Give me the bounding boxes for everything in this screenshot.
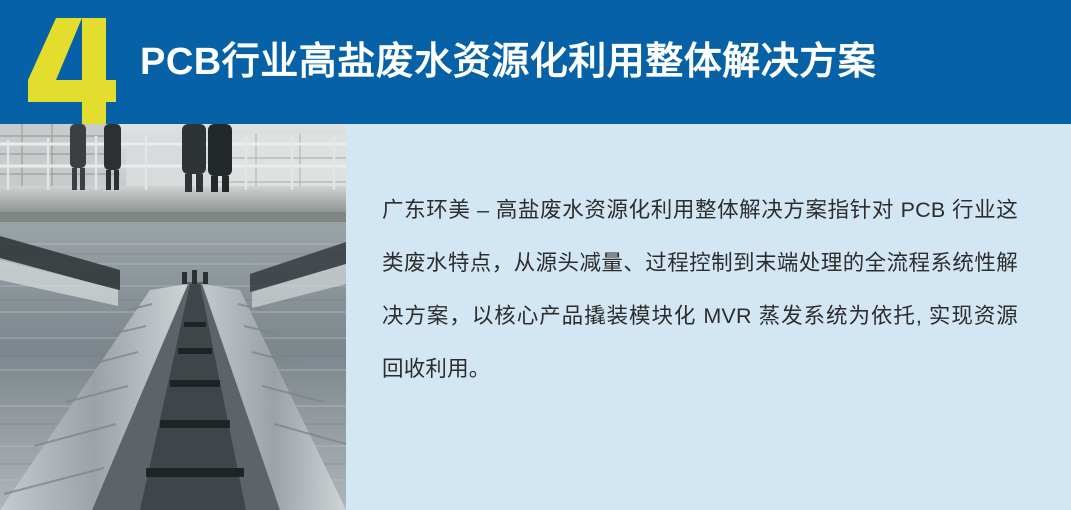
description-panel: 广东环美 – 高盐废水资源化利用整体解决方案指针对 PCB 行业这类废水特点，从… bbox=[346, 124, 1071, 510]
facility-photo bbox=[0, 124, 346, 510]
numeral-four-icon bbox=[28, 18, 116, 124]
solution-section-card: PCB行业高盐废水资源化利用整体解决方案 bbox=[0, 0, 1071, 510]
section-number-badge bbox=[28, 18, 116, 124]
section-title: PCB行业高盐废水资源化利用整体解决方案 bbox=[140, 0, 876, 124]
solution-description-text: 广东环美 – 高盐废水资源化利用整体解决方案指针对 PCB 行业这类废水特点，从… bbox=[382, 184, 1018, 396]
section-header-bar: PCB行业高盐废水资源化利用整体解决方案 bbox=[0, 0, 1071, 124]
section-content: 广东环美 – 高盐废水资源化利用整体解决方案指针对 PCB 行业这类废水特点，从… bbox=[0, 124, 1071, 510]
sedimentation-tank-image bbox=[0, 124, 346, 510]
